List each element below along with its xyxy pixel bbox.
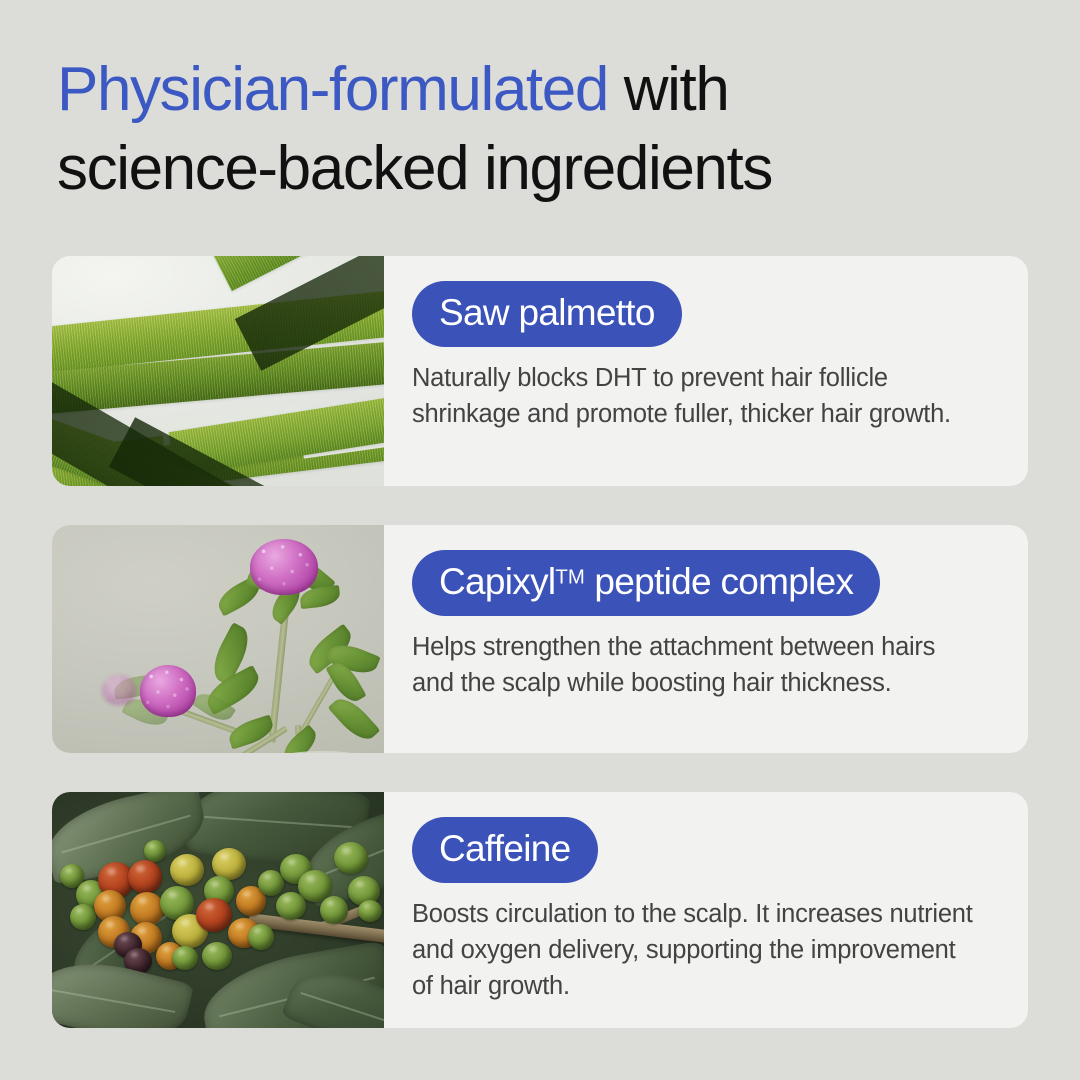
- coffee-cherries-photo: [52, 792, 384, 1028]
- ingredient-card-saw-palmetto: Saw palmetto Naturally blocks DHT to pre…: [52, 256, 1028, 486]
- card-body-capixyl: CapixylTM peptide complex Helps strength…: [384, 525, 1028, 753]
- coffee-berry: [196, 898, 232, 932]
- clover-bloom-blurred: [102, 675, 136, 705]
- coffee-berry: [128, 860, 162, 894]
- coffee-berry: [144, 840, 166, 862]
- coffee-berry: [358, 900, 382, 922]
- coffee-berry: [320, 896, 348, 924]
- ingredient-badge-capixyl: CapixylTM peptide complex: [412, 550, 880, 616]
- ingredient-description-caffeine: Boosts circulation to the scalp. It incr…: [412, 896, 1022, 1005]
- coffee-berry: [334, 842, 368, 874]
- ingredients-infographic: Physician-formulated with science-backed…: [0, 0, 1080, 1080]
- ingredient-card-caffeine: Caffeine Boosts circulation to the scalp…: [52, 792, 1028, 1028]
- page-title: Physician-formulated with science-backed…: [57, 50, 1017, 209]
- ingredient-badge-label: Saw palmetto: [439, 292, 655, 333]
- ingredient-badge-label: Capixyl: [439, 561, 555, 602]
- clover-bloom-upper: [250, 539, 318, 595]
- ingredient-badge-saw-palmetto: Saw palmetto: [412, 281, 682, 347]
- page-title-accent: Physician-formulated: [57, 55, 608, 124]
- ingredient-description-saw-palmetto: Naturally blocks DHT to prevent hair fol…: [412, 360, 1008, 432]
- trademark-symbol: TM: [555, 566, 584, 588]
- ingredient-badge-label-suffix: peptide complex: [585, 561, 854, 602]
- coffee-berry: [130, 892, 164, 926]
- coffee-berry: [172, 946, 198, 970]
- saw-palmetto-palm-fronds-photo: [52, 256, 384, 486]
- red-clover-flower-photo: [52, 525, 384, 753]
- card-body-caffeine: Caffeine Boosts circulation to the scalp…: [384, 792, 1028, 1028]
- coffee-berry: [170, 854, 204, 886]
- coffee-berry: [70, 904, 96, 930]
- ingredient-card-capixyl: CapixylTM peptide complex Helps strength…: [52, 525, 1028, 753]
- coffee-berry: [276, 892, 306, 920]
- clover-bloom-lower: [140, 665, 196, 717]
- coffee-berry: [202, 942, 232, 970]
- coffee-berry: [248, 924, 274, 950]
- ingredient-badge-caffeine: Caffeine: [412, 817, 598, 883]
- card-body-saw-palmetto: Saw palmetto Naturally blocks DHT to pre…: [384, 256, 1028, 486]
- ingredient-badge-label: Caffeine: [439, 828, 571, 869]
- ingredient-description-capixyl: Helps strengthen the attachment between …: [412, 629, 990, 701]
